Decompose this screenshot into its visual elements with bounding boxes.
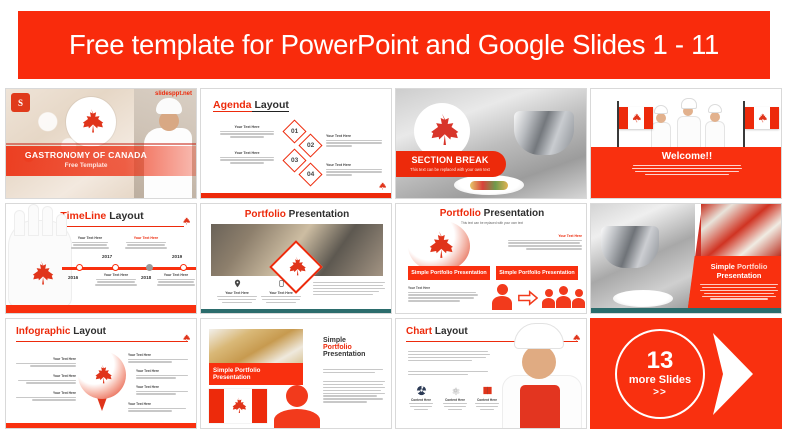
portfolio-body-text <box>313 282 385 295</box>
simple-portfolio-tag-line2: Presentation <box>213 374 260 381</box>
canada-flag-icon <box>745 107 779 129</box>
timeline-year-4: 2019 <box>172 254 182 259</box>
maple-leaf-icon <box>26 254 56 294</box>
screenshot-root: Free template for PowerPoint and Google … <box>0 0 788 447</box>
infographic-left-heading-2: Your Text Here <box>53 374 76 378</box>
portfolio-item-2: Your Text Here <box>259 278 303 303</box>
portfolio-people-title: Portfolio Presentation <box>396 208 587 219</box>
food-photo <box>470 181 508 190</box>
slide-thumbnail-simple-portfolio[interactable]: Simple Portfolio Presentation <box>590 203 782 314</box>
maple-leaf-icon <box>422 229 456 263</box>
chef-head <box>159 111 179 131</box>
agenda-step-number-2: 02 <box>307 142 314 149</box>
simple-portfolio-food-title: Simple Portfolio Presentation <box>323 337 365 358</box>
agenda-step-number-3: 03 <box>291 157 298 164</box>
maple-leaf-badge <box>66 97 116 147</box>
infographic-right-heading-4: Your Text Here <box>128 402 151 406</box>
chef-figure-right <box>705 104 725 148</box>
dessert-table-photo <box>701 204 782 256</box>
plate-photo <box>613 290 673 307</box>
agenda-heading-2: Your Text Here <box>326 134 351 138</box>
food-body-text <box>323 381 385 403</box>
timeline-heading-1: Your Text Here <box>104 273 128 277</box>
agenda-heading-3: Your Text Here <box>234 151 259 155</box>
chef-figure-left <box>651 105 671 149</box>
infographic-title-red: Infographic <box>16 326 70 337</box>
timeline-node-3 <box>146 264 153 271</box>
title-band-accent <box>6 143 197 145</box>
chef-head <box>522 345 556 379</box>
agenda-heading-1: Your Text Here <box>234 125 259 129</box>
agenda-step-number-1: 01 <box>291 128 298 135</box>
timeline-year-1: 2016 <box>68 275 78 280</box>
maple-leaf-icon <box>90 363 114 387</box>
maple-leaf-icon <box>377 181 387 191</box>
portfolio-people-right-heading: Your Text Here <box>558 234 582 238</box>
agenda-footer-bar <box>201 193 392 198</box>
chevron-right-icon <box>709 333 757 415</box>
maple-leaf-icon <box>284 255 308 279</box>
chefs-group-photo <box>651 95 723 149</box>
infographic-footer-bar <box>6 423 197 428</box>
simple-portfolio-body <box>699 284 779 300</box>
food-title-line1: Simple <box>323 337 365 344</box>
timeline-title-red: TimeLine <box>60 210 106 222</box>
people-group-icon <box>542 286 585 308</box>
maple-leaf-icon <box>756 112 768 124</box>
maple-leaf-icon <box>181 216 191 226</box>
simple-portfolio-title-line2: Portfolio <box>737 262 767 271</box>
slidesppt-logo-icon: S <box>11 93 30 112</box>
portfolio-photo-title: Portfolio Presentation <box>201 209 392 220</box>
portfolio-bar-2[interactable]: Simple Portfolio Presentation <box>496 266 578 280</box>
cooking-pot-icon <box>514 111 574 155</box>
logo-letter: S <box>18 98 23 108</box>
chart-title-red: Chart <box>406 326 432 337</box>
banner-title: Free template for PowerPoint and Google … <box>69 29 719 61</box>
slide-thumbnail-more-slides[interactable]: 13 more Slides >> <box>590 318 782 429</box>
slide-thumbnail-chart[interactable]: Chart Layout <box>395 318 587 429</box>
agenda-text-block-2: Your Text Here <box>326 134 384 147</box>
timeline-year-2: 2017 <box>102 254 112 259</box>
simple-portfolio-title-line3: Presentation <box>699 271 779 280</box>
more-slides-count: 13 <box>647 350 674 373</box>
slide-thumbnail-grid: GASTRONOMY OF CANADA Free Template S sli… <box>5 88 785 436</box>
canada-hand-photo <box>8 220 72 308</box>
portfolio-people-title-red: Portfolio <box>440 208 481 219</box>
portfolio-people-title-dark: Presentation <box>484 208 545 219</box>
canada-flag-icon <box>209 389 267 423</box>
chef-figure-center <box>677 98 701 148</box>
title-slide-subheading: Free Template <box>6 162 166 169</box>
infographic-right-heading-3: Your Text Here <box>136 385 159 389</box>
radiation-icon <box>416 385 427 396</box>
chart-feature-heading-1: Content Here <box>411 398 431 402</box>
agenda-title-red: Agenda <box>213 99 252 112</box>
food-title-line3: Presentation <box>323 351 365 358</box>
infographic-right-heading-2: Your Text Here <box>136 369 159 373</box>
timeline-event-1: Your Text Here <box>94 273 138 286</box>
location-pin-icon <box>233 278 242 289</box>
portfolio-item-heading-1: Your Text Here <box>225 291 249 295</box>
food-title-line2: Portfolio <box>323 344 365 351</box>
welcome-body-text <box>631 165 743 175</box>
title-slide-heading: GASTRONOMY OF CANADA <box>6 150 166 160</box>
timeline-heading-2: Your Text Here <box>78 236 102 240</box>
infographic-left-item-3: Your Text Here <box>14 391 76 401</box>
infographic-left-item-2: Your Text Here <box>14 374 76 384</box>
slide-thumbnail-portfolio-people[interactable]: Portfolio Presentation This text can be … <box>395 203 587 314</box>
portfolio-item-1: Your Text Here <box>215 278 259 303</box>
agenda-text-block-1: Your Text Here <box>219 125 275 138</box>
agenda-text-block-3: Your Text Here <box>219 151 275 164</box>
chef-apron <box>520 385 560 429</box>
slide-thumbnail-timeline[interactable]: TimeLine Layout Your Text Here <box>5 203 197 314</box>
agenda-step-number-4: 04 <box>307 171 314 178</box>
infographic-right-item-2: Your Text Here <box>136 369 190 379</box>
chart-feature-1: Content Here <box>408 385 434 410</box>
chart-feature-3: Content Here <box>474 385 500 410</box>
map-pin-head <box>78 351 126 399</box>
agenda-title: Agenda Layout <box>213 99 289 111</box>
portfolio-people-left-text: Your Text Here <box>408 286 478 302</box>
person-icon <box>492 284 512 310</box>
slide-thumbnail-portfolio-photo[interactable]: Portfolio Presentation Your Text Here Yo… <box>200 203 392 314</box>
infographic-right-item-1: Your Text Here <box>128 353 190 363</box>
timeline-footer-bar <box>6 305 197 313</box>
chef-hat-icon <box>156 98 182 114</box>
slide-thumbnail-section-break[interactable]: SECTION BREAK This text can be replaced … <box>395 88 587 199</box>
chef-photo <box>498 323 586 429</box>
agenda-step-badge-4: 04 <box>298 162 322 186</box>
infographic-title-dark: Layout <box>73 326 106 337</box>
timeline-event-3: Your Text Here <box>156 273 196 286</box>
simple-portfolio-title: Simple Portfolio Presentation <box>699 262 779 280</box>
maple-leaf-icon <box>181 333 191 343</box>
cooking-pot-icon <box>601 226 659 268</box>
simple-portfolio-footer-bar <box>591 308 782 313</box>
timeline-heading-4: Your Text Here <box>134 236 158 240</box>
chef-hat-icon <box>514 323 564 349</box>
portfolio-bar-label-1: Simple Portfolio Presentation <box>411 270 486 276</box>
slide-thumbnail-infographic[interactable]: Infographic Layout Your Text Here Your T… <box>5 318 197 429</box>
food-lead-text <box>323 369 385 373</box>
mobile-phone-icon <box>278 278 285 289</box>
maple-leaf-icon <box>228 396 248 416</box>
chart-title-dark: Layout <box>435 326 468 337</box>
timeline-event-4: Your Text Here <box>124 236 168 249</box>
portfolio-photo-title-dark: Presentation <box>289 209 350 220</box>
more-slides-circle: 13 more Slides >> <box>615 329 705 419</box>
chart-body-2 <box>408 371 490 375</box>
timeline-node-4 <box>180 264 187 271</box>
infographic-right-heading-1: Your Text Here <box>128 353 151 357</box>
portfolio-people-right-text: Your Text Here <box>508 234 582 250</box>
timeline-year-3: 2018 <box>141 275 151 280</box>
portfolio-item-heading-2: Your Text Here <box>269 291 293 295</box>
portfolio-people-left-heading: Your Text Here <box>408 286 430 290</box>
chart-body-1 <box>408 351 490 361</box>
infographic-left-heading-3: Your Text Here <box>53 391 76 395</box>
timeline-node-2 <box>112 264 119 271</box>
section-break-heading: SECTION BREAK <box>396 155 504 165</box>
agenda-text-block-4: Your Text Here <box>326 163 384 176</box>
infographic-right-item-3: Your Text Here <box>136 385 190 395</box>
agenda-step-badge-2: 02 <box>298 133 322 157</box>
simple-portfolio-tag-line1: Simple Portfolio <box>213 367 260 374</box>
chart-feature-heading-2: Content Here <box>445 398 465 402</box>
book-icon <box>482 385 493 396</box>
timeline-event-2: Your Text Here <box>70 236 110 249</box>
arrow-right-icon <box>518 290 538 306</box>
infographic-left-item-1: Your Text Here <box>14 357 76 367</box>
gear-icon <box>450 385 461 396</box>
slide-thumbnail-agenda[interactable]: Agenda Layout Your Text Here Your Text H… <box>200 88 392 199</box>
chart-title: Chart Layout <box>406 326 468 337</box>
timeline-node-1 <box>76 264 83 271</box>
section-break-subheading: This text can be replaced with your own … <box>396 167 504 172</box>
simple-portfolio-title-line1: Simple <box>711 262 735 271</box>
infographic-right-item-4: Your Text Here <box>128 402 190 412</box>
header-banner: Free template for PowerPoint and Google … <box>18 11 770 79</box>
simple-portfolio-tag: Simple Portfolio Presentation <box>209 363 303 385</box>
more-slides-label: more Slides <box>629 374 691 386</box>
canada-flag-icon <box>619 107 653 129</box>
welcome-heading: Welcome!! <box>591 151 782 162</box>
maple-leaf-icon <box>422 111 462 151</box>
infographic-title: Infographic Layout <box>16 326 106 337</box>
chart-feature-heading-3: Content Here <box>477 398 497 402</box>
watermark-text: slidesppt.net <box>155 91 192 97</box>
chart-feature-2: Content Here <box>442 385 468 410</box>
slide-thumbnail-welcome[interactable]: Welcome!! <box>590 88 782 199</box>
timeline-title-dark: Layout <box>109 210 143 222</box>
maple-leaf-icon <box>76 107 106 137</box>
agenda-title-dark: Layout <box>254 99 288 112</box>
person-icon <box>271 385 323 429</box>
slide-thumbnail-simple-portfolio-food[interactable]: Simple Portfolio Presentation Simple Por… <box>200 318 392 429</box>
timeline-heading-3: Your Text Here <box>164 273 188 277</box>
map-pin-maple-leaf-icon <box>78 351 126 413</box>
slide-thumbnail-title[interactable]: GASTRONOMY OF CANADA Free Template S sli… <box>5 88 197 199</box>
maple-leaf-circle-badge <box>408 220 470 272</box>
maple-leaf-icon <box>630 112 642 124</box>
more-slides-chevron-text: >> <box>653 387 667 398</box>
infographic-left-heading-1: Your Text Here <box>53 357 76 361</box>
agenda-heading-4: Your Text Here <box>326 163 351 167</box>
portfolio-bar-1[interactable]: Simple Portfolio Presentation <box>408 266 490 280</box>
portfolio-bar-label-2: Simple Portfolio Presentation <box>499 270 574 276</box>
infographic-title-rule <box>16 341 188 342</box>
portfolio-footer-bar <box>201 309 392 313</box>
portfolio-photo-title-red: Portfolio <box>245 209 286 220</box>
